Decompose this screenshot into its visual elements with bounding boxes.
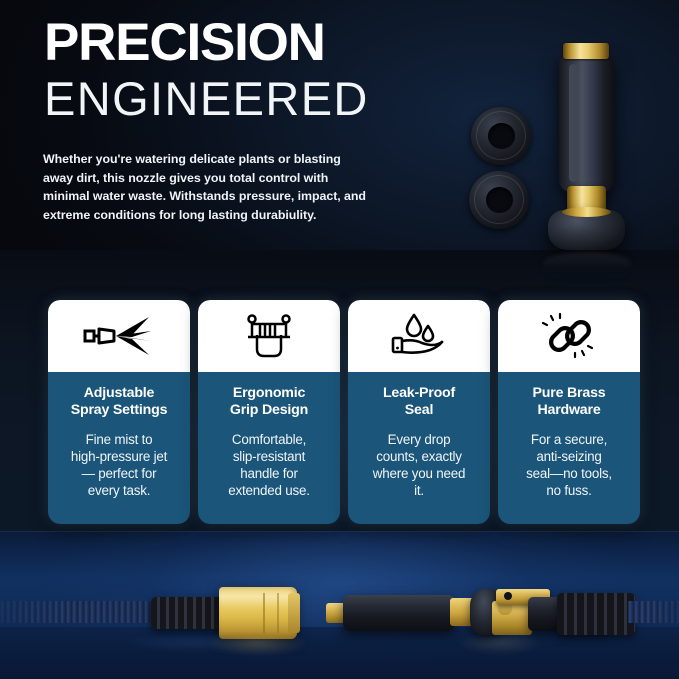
- card-desc-line: Comfortable,: [228, 431, 310, 448]
- bottom-product-strip: [0, 531, 679, 679]
- headline-block: PRECISION ENGINEERED: [44, 16, 369, 126]
- card-desc-line: slip-resistant: [228, 448, 310, 465]
- card-title-line: Ergonomic: [230, 385, 308, 402]
- water-drop-hand-icon: [388, 312, 450, 360]
- card-title-line: Pure Brass: [533, 385, 606, 402]
- card-title: Adjustable Spray Settings: [71, 385, 168, 420]
- rubber-washer-ring: [471, 107, 531, 165]
- card-desc-line: where you need: [373, 465, 466, 482]
- product-infographic-poster: PRECISION ENGINEERED Whether you're wate…: [0, 0, 679, 679]
- card-desc-line: it.: [373, 482, 466, 499]
- card-icon-area: [48, 300, 190, 372]
- nozzle-body-right: [343, 595, 455, 631]
- card-text-area: Ergonomic Grip Design Comfortable, slip-…: [198, 372, 340, 524]
- card-title-line: Seal: [383, 402, 455, 419]
- feature-card-adjustable-spray[interactable]: Adjustable Spray Settings Fine mist to h…: [48, 300, 190, 524]
- headline-line-1: PRECISION: [44, 16, 369, 69]
- card-desc-line: counts, exactly: [373, 448, 466, 465]
- spray-nozzle-icon: [83, 314, 155, 358]
- body-copy: Whether you're watering delicate plants …: [43, 150, 373, 224]
- hose-grip-left: [151, 597, 223, 629]
- nozzle-base: [548, 210, 625, 250]
- card-title-line: Hardware: [533, 402, 606, 419]
- card-description: For a secure, anti-seizing seal—no tools…: [526, 431, 612, 499]
- feature-card-pure-brass-hardware[interactable]: Pure Brass Hardware For a secure, anti-s…: [498, 300, 640, 524]
- card-desc-line: anti-seizing: [526, 448, 612, 465]
- card-icon-area: [498, 300, 640, 372]
- card-desc-line: Fine mist to: [71, 431, 167, 448]
- card-title-line: Adjustable: [71, 385, 168, 402]
- card-desc-line: high-pressure jet: [71, 448, 167, 465]
- card-desc-line: extended use.: [228, 482, 310, 499]
- nozzle-body: [559, 56, 614, 192]
- card-desc-line: no fuss.: [526, 482, 612, 499]
- card-text-area: Adjustable Spray Settings Fine mist to h…: [48, 372, 190, 524]
- feature-cards: Adjustable Spray Settings Fine mist to h…: [48, 300, 640, 524]
- card-desc-line: — perfect for: [71, 465, 167, 482]
- card-title: Leak-Proof Seal: [383, 385, 455, 420]
- card-description: Every drop counts, exactly where you nee…: [373, 431, 466, 499]
- hero-reflection: [543, 252, 631, 282]
- feature-card-leak-proof-seal[interactable]: Leak-Proof Seal Every drop counts, exact…: [348, 300, 490, 524]
- hero-product-image: [455, 14, 679, 280]
- card-desc-line: For a secure,: [526, 431, 612, 448]
- card-desc-line: seal—no tools,: [526, 465, 612, 482]
- feature-card-ergonomic-grip[interactable]: Ergonomic Grip Design Comfortable, slip-…: [198, 300, 340, 524]
- braided-hose-left: [0, 601, 154, 623]
- card-desc-line: Every drop: [373, 431, 466, 448]
- card-title-line: Spray Settings: [71, 402, 168, 419]
- card-title-line: Grip Design: [230, 402, 308, 419]
- card-description: Comfortable, slip-resistant handle for e…: [228, 431, 310, 499]
- hand-grip-icon: [243, 313, 295, 359]
- card-title: Ergonomic Grip Design: [230, 385, 308, 420]
- rubber-washer-ring: [469, 171, 529, 229]
- strip-reflection: [0, 637, 679, 679]
- chain-link-icon: [542, 311, 596, 361]
- brass-connector-ring: [288, 593, 300, 633]
- card-description: Fine mist to high-pressure jet — perfect…: [71, 431, 167, 499]
- card-desc-line: every task.: [71, 482, 167, 499]
- headline-line-2: ENGINEERED: [44, 73, 369, 126]
- card-text-area: Pure Brass Hardware For a secure, anti-s…: [498, 372, 640, 524]
- braided-hose-right: [628, 601, 679, 623]
- card-title: Pure Brass Hardware: [533, 385, 606, 420]
- brass-connector-left: [219, 587, 297, 639]
- nozzle-brass-tip: [563, 43, 609, 59]
- card-text-area: Leak-Proof Seal Every drop counts, exact…: [348, 372, 490, 524]
- hose-grip-right: [557, 593, 635, 635]
- card-title-line: Leak-Proof: [383, 385, 455, 402]
- card-icon-area: [198, 300, 340, 372]
- card-icon-area: [348, 300, 490, 372]
- card-desc-line: handle for: [228, 465, 310, 482]
